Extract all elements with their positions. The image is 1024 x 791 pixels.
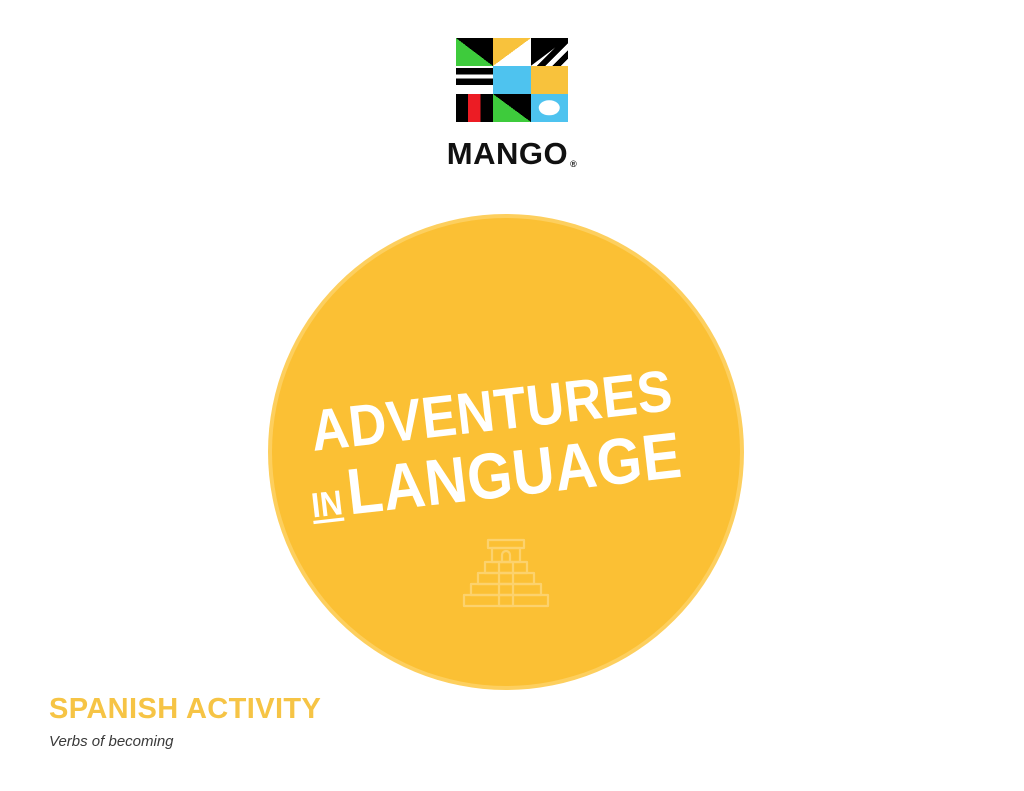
mango-wordmark: MANGO®	[447, 136, 577, 172]
mango-logo-mark	[456, 38, 568, 122]
mango-wordmark-text: MANGO	[447, 136, 568, 172]
brand-logo: MANGO®	[0, 38, 1024, 172]
activity-title: SPANISH ACTIVITY	[49, 694, 321, 726]
activity-footer: SPANISH ACTIVITY Verbs of becoming	[49, 694, 321, 751]
activity-subtitle: Verbs of becoming	[49, 733, 321, 751]
black-white-horizontal-bars-tile-icon	[456, 66, 493, 94]
green-black-diagonal-tile-icon	[456, 38, 493, 66]
hero-title-in: IN	[310, 487, 344, 522]
yellow-square-tile-icon	[531, 66, 568, 94]
green-black-triangle-tile-icon	[493, 94, 530, 122]
cyan-circle-tile-icon	[531, 94, 568, 122]
black-red-black-vertical-bars-tile-icon	[456, 94, 493, 122]
yellow-triangle-tile-icon	[493, 38, 530, 66]
cyan-square-tile-icon	[493, 66, 530, 94]
black-white-diagonal-stripes-tile-icon	[531, 38, 568, 66]
hero-title: ADVENTURES INLANGUAGE	[301, 368, 711, 524]
mayan-pyramid-icon	[458, 534, 554, 620]
hero-circle: ADVENTURES INLANGUAGE	[272, 218, 740, 686]
registered-mark: ®	[570, 159, 577, 169]
